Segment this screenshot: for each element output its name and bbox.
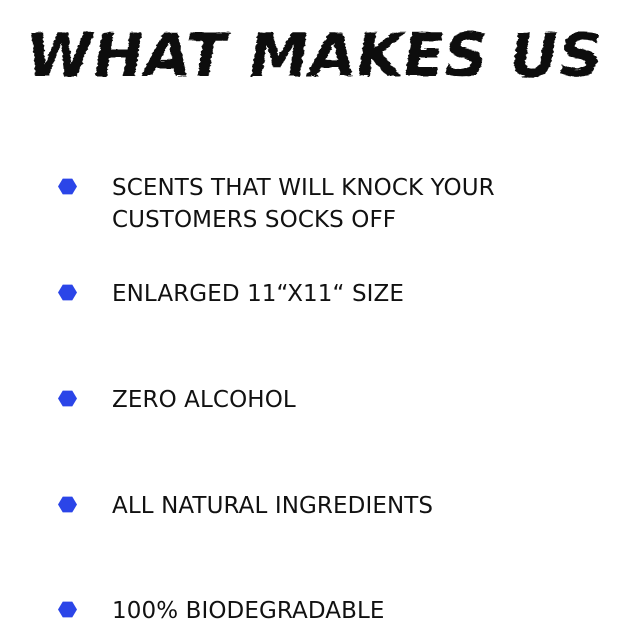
hexagon-bullet-icon xyxy=(58,496,77,513)
hexagon-shape xyxy=(58,390,77,407)
hexagon-bullet-icon xyxy=(58,178,77,195)
hexagon-bullet-icon xyxy=(58,284,77,301)
hexagon-shape xyxy=(58,284,77,301)
list-item-label: SCENTS THAT WILL KNOCK YOUR CUSTOMERS SO… xyxy=(112,172,626,236)
list-item: ALL NATURAL INGREDIENTS xyxy=(0,490,626,522)
hexagon-bullet-icon xyxy=(58,601,77,618)
list-item: ENLARGED 11“X11“ SIZE xyxy=(0,278,626,310)
list-item-label: ALL NATURAL INGREDIENTS xyxy=(112,490,626,522)
hexagon-shape xyxy=(58,178,77,195)
page-title-text: WHAT MAKES US UNIQUE? xyxy=(21,21,626,91)
hexagon-shape xyxy=(58,601,77,618)
page-title-artwork: WHAT MAKES US UNIQUE? xyxy=(22,14,602,92)
list-item: 100% BIODEGRADABLE xyxy=(0,595,626,627)
list-item: SCENTS THAT WILL KNOCK YOUR CUSTOMERS SO… xyxy=(0,172,626,236)
list-item: ZERO ALCOHOL xyxy=(0,384,626,416)
hexagon-shape xyxy=(58,496,77,513)
page-title: WHAT MAKES US UNIQUE? xyxy=(22,14,602,92)
list-item-label: 100% BIODEGRADABLE xyxy=(112,595,626,627)
list-item-label: ZERO ALCOHOL xyxy=(112,384,626,416)
list-item-label: ENLARGED 11“X11“ SIZE xyxy=(112,278,626,310)
slide-canvas: WHAT MAKES US UNIQUE? SCENTS THAT WILL K… xyxy=(0,0,626,643)
hexagon-bullet-icon xyxy=(58,390,77,407)
